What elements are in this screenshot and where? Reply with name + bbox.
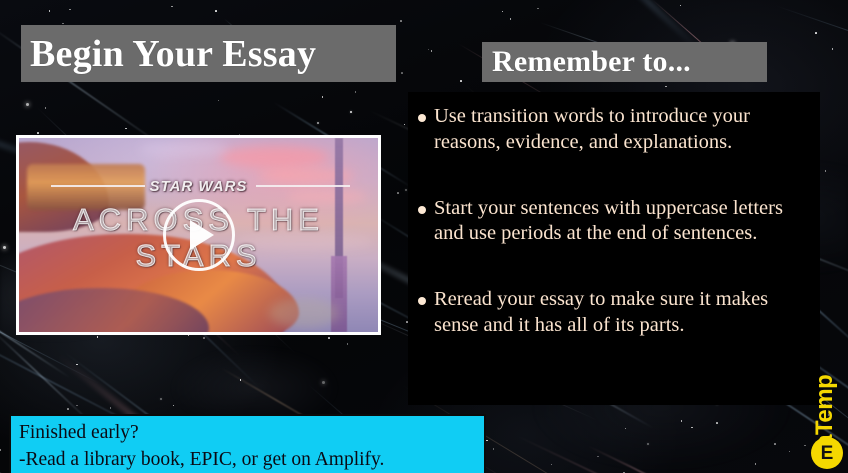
star-dot — [716, 422, 718, 424]
list-item: Use transition words to introduce your r… — [418, 104, 814, 156]
star-dot — [347, 343, 349, 345]
star-dot — [69, 9, 71, 11]
star-dot — [171, 6, 173, 8]
star-dot — [0, 449, 1, 451]
foliage-shape — [269, 298, 339, 328]
star-dot — [647, 443, 649, 445]
star-dot — [160, 398, 162, 400]
play-triangle — [190, 220, 214, 250]
star-dot — [681, 420, 683, 422]
star-dot — [486, 440, 488, 442]
star-dot — [317, 122, 319, 124]
star-dot — [774, 443, 776, 445]
star-dot — [493, 448, 495, 450]
star-dot — [49, 10, 51, 12]
video-thumbnail[interactable]: STAR WARS ACROSS THE STARS — [16, 135, 381, 335]
star-dot — [789, 451, 791, 453]
list-item-text: Reread your essay to make sure it makes … — [434, 287, 814, 339]
star-dot — [825, 170, 827, 172]
star-dot — [350, 111, 352, 113]
star-dot — [815, 32, 817, 34]
star-dot — [405, 189, 407, 191]
star-dot — [67, 408, 69, 410]
cloud-shape — [219, 146, 329, 168]
star-dot — [203, 337, 205, 339]
slide-canvas: Begin Your Essay Remember to... Use tran… — [0, 0, 848, 473]
star-dot — [218, 100, 220, 102]
finished-early-banner: Finished early? -Read a library book, EP… — [9, 414, 486, 473]
list-item: Start your sentences with uppercase lett… — [418, 196, 814, 248]
star-dot — [400, 20, 402, 22]
star-dot — [401, 72, 403, 74]
bullet-dot-icon — [418, 206, 426, 214]
star-dot — [537, 8, 539, 10]
watermark-logo-letter: E — [821, 444, 834, 463]
star-dot — [322, 381, 325, 384]
star-dot — [355, 91, 357, 93]
star-dot — [110, 407, 112, 409]
star-dot — [240, 379, 242, 381]
star-dot — [804, 445, 806, 447]
star-dot — [510, 18, 512, 20]
star-dot — [625, 428, 627, 430]
star-dot — [691, 427, 693, 429]
star-dot — [328, 337, 330, 339]
star-dot — [97, 336, 99, 338]
star-dot — [502, 11, 504, 13]
star-dot — [125, 128, 127, 130]
star-dot — [37, 132, 39, 134]
finished-early-line1: Finished early? — [19, 420, 484, 447]
finished-early-line2: -Read a library book, EPIC, or get on Am… — [19, 447, 484, 473]
star-dot — [428, 49, 430, 51]
star-dot — [460, 80, 462, 82]
page-title-right: Remember to... — [482, 42, 767, 82]
star-dot — [404, 124, 406, 126]
star-dot — [597, 456, 599, 458]
star-dot — [680, 5, 682, 7]
watermark-logo-icon: E — [811, 437, 843, 469]
watermark: EaTemp E — [807, 341, 847, 471]
star-dot — [665, 86, 667, 88]
star-dot — [551, 464, 553, 466]
star-dot — [26, 103, 29, 106]
star-dot — [755, 463, 757, 465]
bullet-dot-icon — [418, 114, 426, 122]
star-dot — [76, 364, 78, 366]
star-dot — [3, 246, 6, 249]
page-title-right-text: Remember to... — [492, 45, 691, 79]
cloud-shape — [139, 142, 229, 156]
bullet-dot-icon — [418, 297, 426, 305]
play-icon[interactable] — [163, 199, 235, 271]
star-dot — [76, 405, 78, 407]
video-brand-text: STAR WARS — [19, 178, 378, 195]
star-dot — [397, 192, 399, 194]
reminders-panel: Use transition words to introduce your r… — [408, 92, 820, 405]
star-dot — [215, 10, 217, 12]
star-dot — [322, 96, 324, 98]
page-title-left: Begin Your Essay — [21, 25, 396, 82]
star-dot — [431, 50, 433, 52]
star-dot — [173, 405, 175, 407]
star-dot — [832, 48, 834, 50]
page-title-left-text: Begin Your Essay — [30, 32, 316, 76]
list-item-text: Start your sentences with uppercase lett… — [434, 196, 814, 248]
star-dot — [45, 107, 47, 109]
list-item-text: Use transition words to introduce your r… — [434, 104, 814, 156]
list-item: Reread your essay to make sure it makes … — [418, 287, 814, 339]
